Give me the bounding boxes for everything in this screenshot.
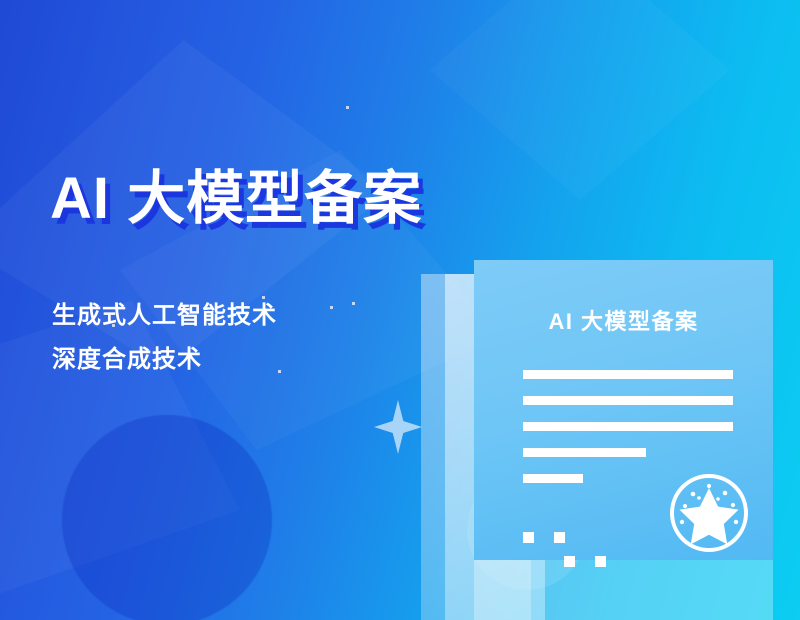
document-card-title: AI 大模型备案 xyxy=(474,304,773,336)
document-dot xyxy=(554,532,565,543)
document-text-line xyxy=(523,370,733,379)
document-text-line xyxy=(523,448,646,457)
document-text-line xyxy=(523,396,733,405)
document-card-front: AI 大模型备案 xyxy=(474,260,773,560)
certification-seal-icon xyxy=(668,472,750,554)
ai-model-filing-banner: AI 大模型备案 生成式人工智能技术 深度合成技术 AI 大模型备案 xyxy=(0,0,800,620)
document-dot xyxy=(564,556,575,567)
document-text-line xyxy=(523,474,583,483)
document-dot xyxy=(523,532,534,543)
document-card-stack: AI 大模型备案 xyxy=(0,0,800,620)
document-text-line xyxy=(523,422,733,431)
document-dot xyxy=(595,556,606,567)
